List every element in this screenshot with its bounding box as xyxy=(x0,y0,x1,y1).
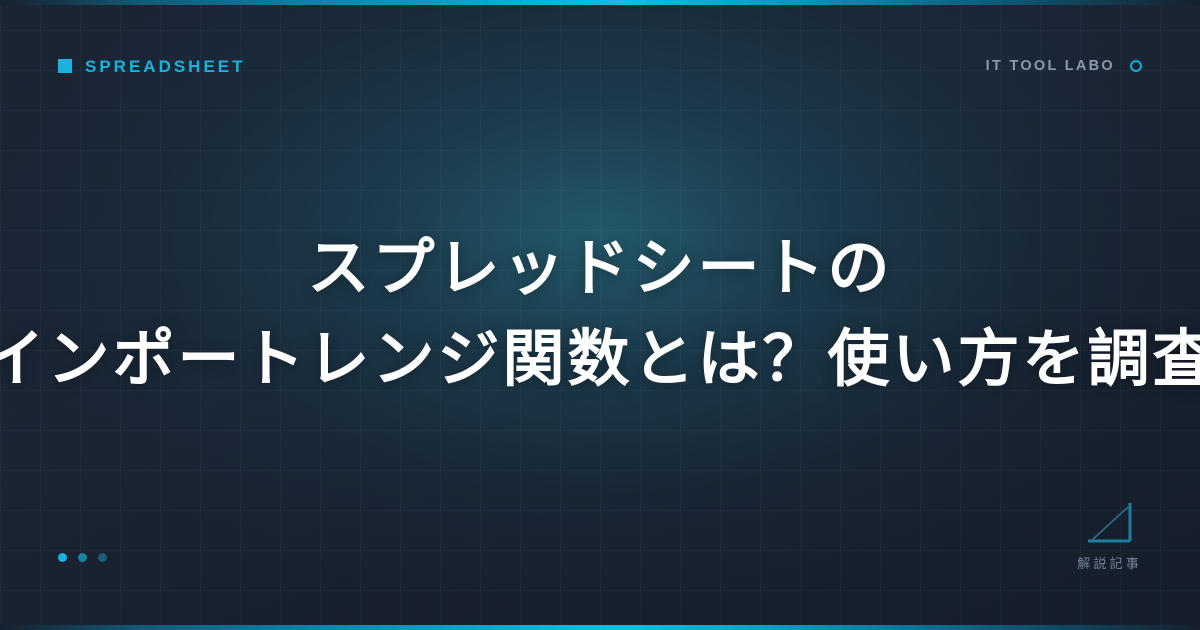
bottom-accent-bar xyxy=(0,625,1200,630)
dot-1 xyxy=(58,553,67,562)
title-line-1: スプレッドシートの xyxy=(307,229,892,310)
page-title: スプレッドシートの インポートレンジ関数とは？使い方を調査 xyxy=(0,0,1200,630)
title-line-2: インポートレンジ関数とは？使い方を調査 xyxy=(0,320,1200,401)
dot-2 xyxy=(78,553,87,562)
dot-3 xyxy=(98,553,107,562)
og-card: SPREADSHEET IT TOOL LABO スプレッドシートの インポート… xyxy=(0,0,1200,630)
chart-growth-icon xyxy=(1086,501,1134,543)
article-type-badge: 解説記事 xyxy=(1077,501,1142,570)
dot-indicator xyxy=(58,553,107,562)
badge-label: 解説記事 xyxy=(1077,557,1142,570)
